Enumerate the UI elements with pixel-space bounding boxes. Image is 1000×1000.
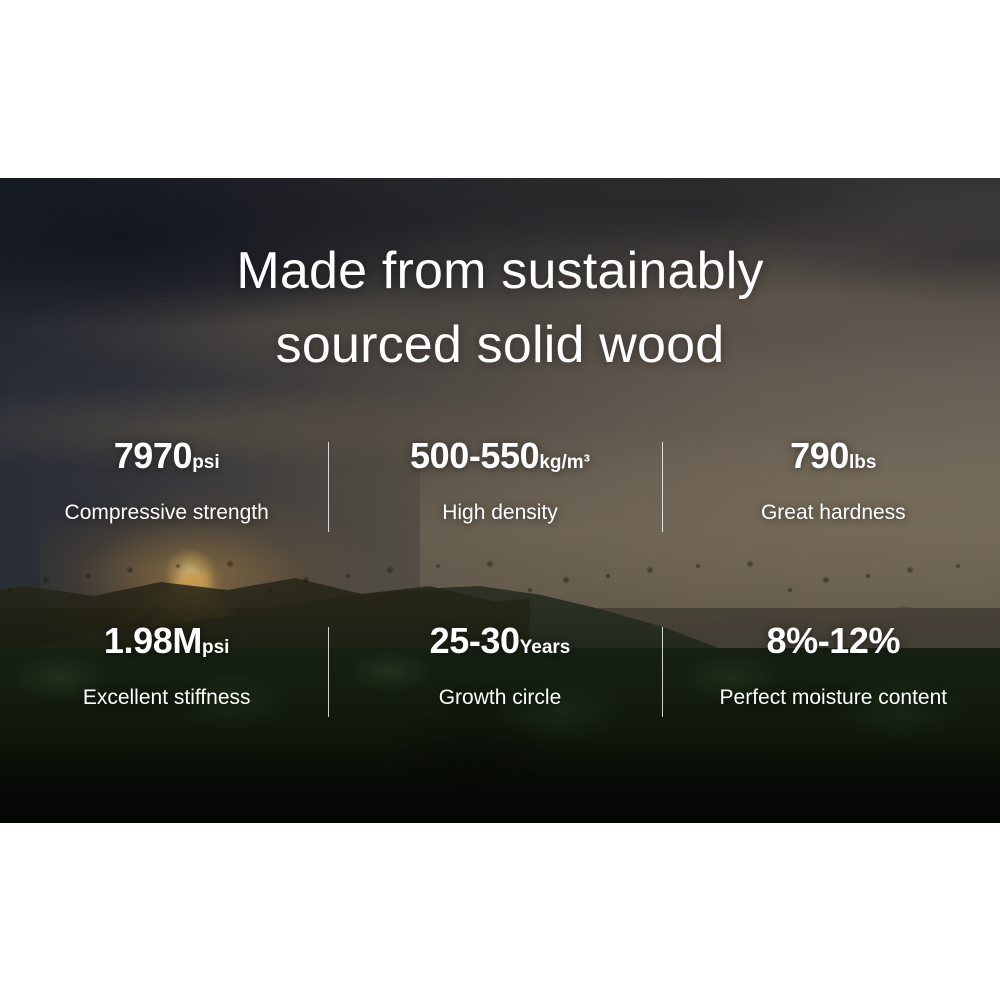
stat-unit: lbs	[849, 452, 876, 473]
stat-number: 8%-12%	[766, 620, 900, 661]
stat-excellent-stiffness: 1.98Mpsi Excellent stiffness	[0, 618, 333, 711]
stat-label: High density	[343, 500, 656, 526]
stat-value: 790lbs	[677, 433, 990, 486]
stat-unit: psi	[202, 637, 229, 658]
stat-number: 7970	[114, 435, 193, 476]
stat-value: 500-550kg/m³	[343, 433, 656, 486]
stat-value: 8%-12%	[677, 618, 990, 671]
stat-great-hardness: 790lbs Great hardness	[667, 433, 1000, 526]
stat-moisture-content: 8%-12% Perfect moisture content	[667, 618, 1000, 711]
stat-label: Compressive strength	[10, 500, 323, 526]
stat-number: 790	[790, 435, 849, 476]
stat-value: 7970psi	[10, 433, 323, 486]
stat-value: 25-30Years	[343, 618, 656, 671]
stat-unit: kg/m³	[539, 452, 590, 473]
stat-row-2: 1.98Mpsi Excellent stiffness 25-30Years …	[0, 618, 1000, 711]
stat-number: 1.98M	[104, 620, 202, 661]
stat-unit: psi	[192, 452, 219, 473]
page-canvas: Made from sustainably sourced solid wood…	[0, 0, 1000, 1000]
stat-label: Excellent stiffness	[10, 685, 323, 711]
stat-value: 1.98Mpsi	[10, 618, 323, 671]
stat-row-1: 7970psi Compressive strength 500-550kg/m…	[0, 433, 1000, 526]
stat-number: 25-30	[430, 620, 520, 661]
promo-banner: Made from sustainably sourced solid wood…	[0, 178, 1000, 823]
stat-high-density: 500-550kg/m³ High density	[333, 433, 666, 526]
stat-compressive-strength: 7970psi Compressive strength	[0, 433, 333, 526]
banner-headline: Made from sustainably sourced solid wood	[0, 234, 1000, 382]
stat-label: Growth circle	[343, 685, 656, 711]
stat-number: 500-550	[410, 435, 539, 476]
banner-content: Made from sustainably sourced solid wood…	[0, 178, 1000, 823]
stat-growth-circle: 25-30Years Growth circle	[333, 618, 666, 711]
stat-label: Great hardness	[677, 500, 990, 526]
stat-unit: Years	[520, 637, 571, 658]
stat-label: Perfect moisture content	[677, 685, 990, 711]
